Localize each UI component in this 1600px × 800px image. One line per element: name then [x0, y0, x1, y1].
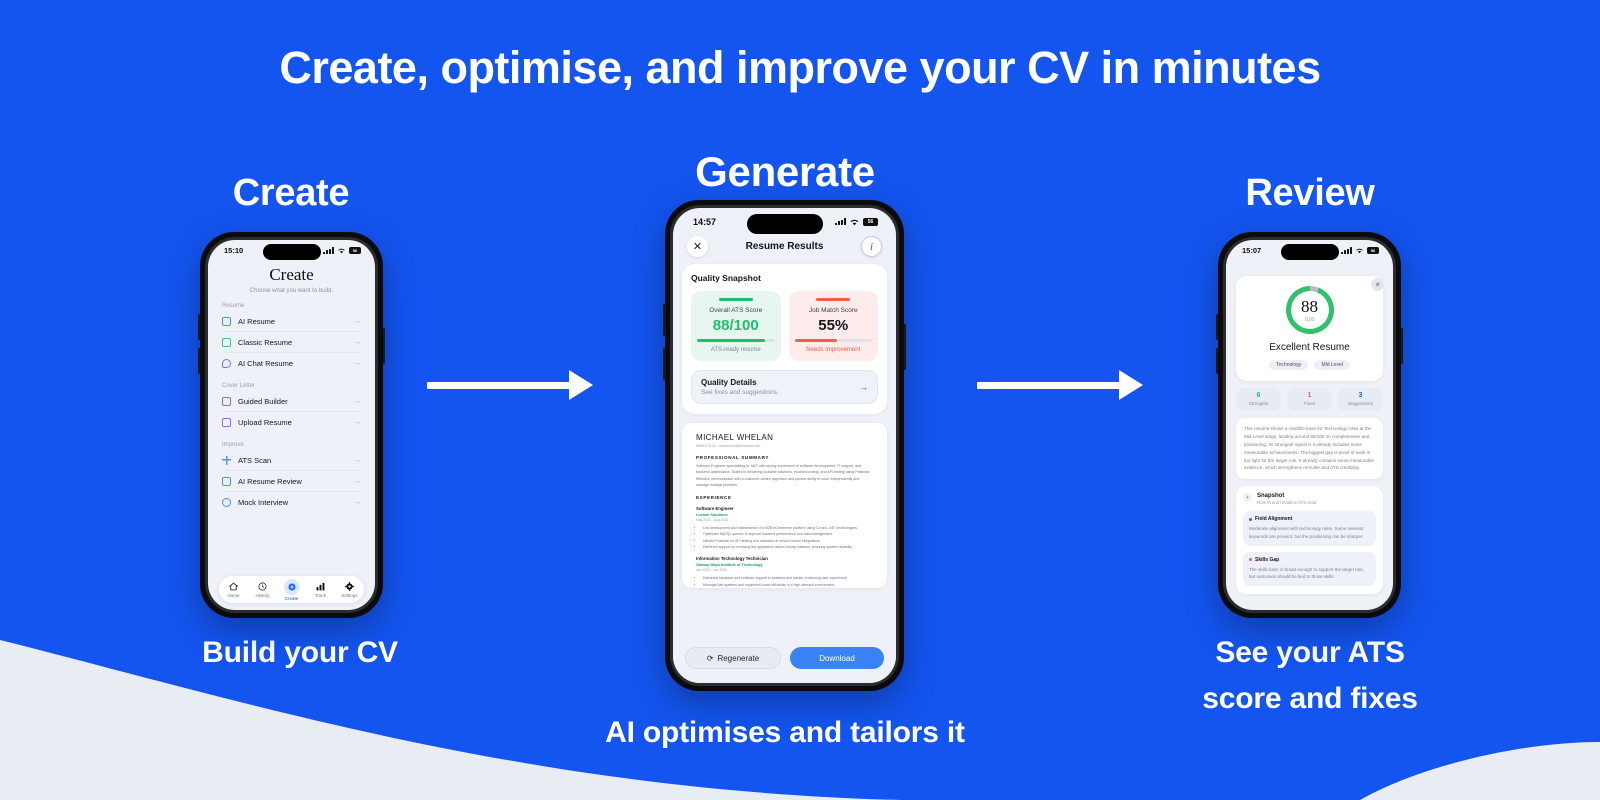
list-item-label: Mock Interview	[238, 498, 347, 507]
chevron-right-icon: →	[354, 339, 361, 346]
phone-mockup-create: 15:10 56 Create Choose what you want to …	[200, 232, 383, 618]
status-time: 15:07	[1242, 246, 1261, 255]
phone-mockup-review: 15:07 56 ✕ 88 /100 Excellent Resume T	[1218, 232, 1401, 618]
summary-text: This resume shows a credible base for Te…	[1236, 418, 1383, 479]
arrow-right-icon: →	[859, 382, 868, 392]
pulse-icon	[222, 456, 231, 465]
resume-bullet: Managed lab systems and equipment loans …	[703, 582, 873, 588]
resume-job: Software Engineer Luxami Solutions May 2…	[696, 506, 873, 550]
refresh-icon: ⟳	[707, 654, 714, 663]
ats-score-card: 88 /100 Excellent Resume Technology Mid …	[1236, 276, 1383, 381]
section-cover-letter: Cover Letter Guided Builder → Upload Res…	[208, 383, 375, 433]
volume-down-button[interactable]	[198, 348, 200, 374]
section-resume: Resume AI Resume → Classic Resume → AI C…	[208, 303, 375, 374]
screen-subtitle: Choose what you want to build.	[208, 288, 375, 294]
screen-title: Resume Results	[746, 241, 824, 252]
section-improve: Improve ATS Scan → AI Resume Review → Mo…	[208, 442, 375, 513]
score-verdict: Excellent Resume	[1244, 342, 1375, 353]
volume-up-button[interactable]	[1216, 314, 1218, 340]
battery-icon: 56	[863, 218, 878, 226]
resume-section-heading: PROFESSIONAL SUMMARY	[696, 455, 873, 460]
finding-title: Field Alignment	[1255, 516, 1292, 522]
chevron-right-icon: →	[354, 318, 361, 325]
tab-label: Track	[306, 593, 335, 598]
list-item-mock-interview[interactable]: Mock Interview →	[222, 492, 361, 513]
signal-icon	[835, 218, 846, 226]
finding-body: The skills base is broad enough to suppo…	[1249, 566, 1370, 581]
stat-value: 1	[1287, 392, 1332, 399]
list-item-upload-resume[interactable]: Upload Resume →	[222, 412, 361, 433]
regenerate-label: Regenerate	[717, 654, 759, 663]
metric-label: Overall ATS Score	[697, 307, 775, 314]
action-bar: ⟳ Regenerate Download	[673, 638, 896, 683]
finding-body: Moderate alignment with technology roles…	[1249, 525, 1370, 540]
metric-value: 88/100	[697, 317, 775, 334]
stat-suggestions[interactable]: 3 Suggestions	[1338, 388, 1383, 411]
score-ring: 88 /100	[1286, 286, 1334, 334]
signal-icon	[1341, 247, 1352, 254]
resume-job-role: Software Engineer	[696, 506, 873, 511]
navigation-bar: ✕ Resume Results i	[673, 230, 896, 264]
info-icon[interactable]: i	[861, 236, 882, 257]
review-caption-line2: score and fixes	[1202, 682, 1417, 715]
list-item-ai-resume-review[interactable]: AI Resume Review →	[222, 471, 361, 492]
chat-bubble-icon	[222, 359, 231, 368]
stat-fixes[interactable]: 1 Fixes	[1287, 388, 1332, 411]
chip-level: Mid Level	[1314, 360, 1349, 370]
stats-row: 6 Strengths 1 Fixes 3 Suggestions	[1236, 388, 1383, 411]
section-label: Improve	[222, 442, 375, 448]
review-icon	[222, 477, 231, 486]
document-icon	[222, 418, 231, 427]
status-dot	[1249, 518, 1252, 521]
status-time: 15:10	[224, 246, 243, 255]
sparkle-icon: ✦	[1243, 493, 1252, 502]
score-value: 88	[1301, 298, 1318, 315]
chevron-right-icon: →	[354, 419, 361, 426]
tab-settings[interactable]: Settings	[335, 581, 364, 598]
resume-job-org: Luxami Solutions	[696, 513, 873, 517]
list-item-label: AI Resume	[238, 317, 347, 326]
tab-history[interactable]: History	[248, 581, 277, 598]
list-item-classic-resume[interactable]: Classic Resume →	[222, 332, 361, 353]
step-title-create: Create	[170, 172, 412, 215]
step-title-generate: Generate	[660, 148, 910, 196]
ai-resume-icon	[222, 317, 231, 326]
list-item-ai-chat-resume[interactable]: AI Chat Resume →	[222, 353, 361, 374]
chevron-right-icon: →	[354, 398, 361, 405]
volume-down-button[interactable]	[663, 348, 666, 380]
snapshot-subtitle: Role fit and headline ATS read	[1257, 500, 1316, 505]
list-item-ai-resume[interactable]: AI Resume →	[222, 311, 361, 332]
tab-track[interactable]: Track	[306, 581, 335, 598]
stat-strengths[interactable]: 6 Strengths	[1236, 388, 1281, 411]
list-item-label: Guided Builder	[238, 397, 347, 406]
stat-label: Fixes	[1287, 401, 1332, 406]
metric-value: 55%	[795, 317, 873, 334]
finding-title: Skills Gap	[1255, 557, 1279, 563]
resume-job-dates: May 2021 – Aug 2023	[696, 518, 873, 522]
finding-skills-gap: Skills Gap The skills base is broad enou…	[1243, 552, 1376, 586]
quality-details-button[interactable]: Quality Details See fixes and suggestion…	[691, 370, 878, 404]
step-title-review: Review	[1185, 172, 1435, 215]
metric-accent-bar	[719, 298, 753, 301]
quality-snapshot-card: Quality Snapshot Overall ATS Score 88/10…	[682, 264, 887, 414]
quality-details-subtitle: See fixes and suggestions.	[701, 389, 779, 396]
review-caption-line1: See your ATS	[1215, 636, 1404, 669]
volume-down-button[interactable]	[1216, 348, 1218, 374]
metric-label: Job Match Score	[795, 307, 873, 314]
classic-resume-icon	[222, 338, 231, 347]
tab-create[interactable]: Create	[277, 579, 306, 601]
section-label: Cover Letter	[222, 383, 375, 389]
status-time: 14:57	[693, 217, 716, 227]
stat-value: 3	[1338, 392, 1383, 399]
status-bar: 15:07 56	[1226, 240, 1393, 258]
list-item-label: AI Chat Resume	[238, 359, 347, 368]
resume-summary: Software Engineer specialising in .NET w…	[696, 463, 873, 488]
page-title: Create, optimise, and improve your CV in…	[0, 42, 1600, 94]
metric-progress-fill	[697, 339, 765, 342]
chevron-right-icon: →	[354, 499, 361, 506]
resume-name: MICHAEL WHELAN	[696, 433, 873, 442]
tab-label: History	[248, 593, 277, 598]
close-icon[interactable]: ✕	[1371, 278, 1384, 291]
metric-overall-ats-score: Overall ATS Score 88/100 ATS-ready resum…	[691, 291, 781, 361]
resume-preview[interactable]: MICHAEL WHELAN 0858171134 · whelanm19@ho…	[682, 423, 887, 588]
metric-job-match-score: Job Match Score 55% Needs Improvement	[789, 291, 879, 361]
stat-label: Suggestions	[1338, 401, 1383, 406]
power-button[interactable]	[1401, 328, 1403, 364]
resume-job: Information Technology Technician Galway…	[696, 556, 873, 588]
metric-note: Needs Improvement	[795, 347, 873, 353]
stat-label: Strengths	[1236, 401, 1281, 406]
regenerate-button[interactable]: ⟳ Regenerate	[685, 647, 781, 669]
chip-industry: Technology	[1269, 360, 1308, 370]
close-icon[interactable]: ✕	[687, 236, 708, 257]
envelope-icon	[222, 397, 231, 406]
step-caption-review: See your ATS score and fixes	[1160, 630, 1460, 721]
score-denominator: /100	[1305, 317, 1315, 323]
metric-accent-bar	[816, 298, 850, 301]
resume-job-dates: Jan 2019 – Jun 2020	[696, 568, 873, 572]
wifi-icon	[337, 247, 346, 254]
chevron-right-icon: →	[354, 478, 361, 485]
step-caption-create: Build your CV	[150, 630, 450, 676]
section-label: Resume	[222, 303, 375, 309]
list-item-ats-scan[interactable]: ATS Scan →	[222, 450, 361, 471]
metric-progress-fill	[795, 339, 838, 342]
status-bar: 15:10 56	[208, 240, 375, 258]
resume-job-org: Galway Mayo Institute of Technology	[696, 563, 873, 567]
status-bar: 14:57 56	[673, 208, 896, 230]
list-item-label: ATS Scan	[238, 456, 347, 465]
screen-title: Create	[208, 265, 375, 285]
resume-section-heading: EXPERIENCE	[696, 495, 873, 500]
metric-progress-track	[795, 339, 873, 342]
list-item-guided-builder[interactable]: Guided Builder →	[222, 391, 361, 412]
tab-label: Create	[277, 596, 306, 601]
resume-job-role: Information Technology Technician	[696, 556, 873, 561]
metric-progress-track	[697, 339, 775, 342]
chevron-right-icon: →	[354, 360, 361, 367]
signal-icon	[323, 247, 334, 254]
metric-note: ATS-ready resume	[697, 347, 775, 353]
quality-details-title: Quality Details	[701, 378, 779, 387]
list-item-label: AI Resume Review	[238, 477, 347, 486]
bottom-tab-bar: Home History Create	[219, 576, 364, 603]
tab-home[interactable]: Home	[219, 581, 248, 598]
plus-icon	[284, 579, 300, 595]
battery-icon: 56	[349, 247, 361, 254]
volume-up-button[interactable]	[663, 304, 666, 336]
arrow-generate-to-review	[977, 370, 1143, 400]
resume-bullet: Delivered support by resolving live appl…	[703, 544, 873, 550]
microphone-icon	[222, 498, 231, 507]
status-dot	[1249, 558, 1252, 561]
snapshot-title: Snapshot	[1257, 493, 1316, 499]
bars-icon	[306, 581, 335, 592]
power-button[interactable]	[383, 328, 385, 364]
stat-value: 6	[1236, 392, 1281, 399]
finding-field-alignment: Field Alignment Moderate alignment with …	[1243, 511, 1376, 545]
tab-label: Settings	[335, 593, 364, 598]
snapshot-card: ✦ Snapshot Role fit and headline ATS rea…	[1236, 486, 1383, 594]
wifi-icon	[849, 218, 860, 226]
step-caption-generate: AI optimises and tailors it	[545, 710, 1025, 756]
home-icon	[219, 581, 248, 592]
tab-label: Home	[219, 593, 248, 598]
battery-icon: 56	[1367, 247, 1379, 254]
clock-icon	[248, 581, 277, 592]
download-button[interactable]: Download	[790, 647, 884, 669]
power-button[interactable]	[904, 324, 907, 370]
gear-icon	[335, 581, 364, 592]
download-label: Download	[819, 654, 855, 663]
volume-up-button[interactable]	[198, 314, 200, 340]
arrow-create-to-generate	[427, 370, 593, 400]
list-item-label: Upload Resume	[238, 418, 347, 427]
resume-contact: 0858171134 · whelanm19@hotmail.com	[696, 444, 873, 448]
phone-mockup-generate: 14:57 56 ✕ Resume Results i Quality Snap…	[665, 200, 904, 691]
chevron-right-icon: →	[354, 457, 361, 464]
card-title: Quality Snapshot	[691, 273, 878, 283]
resume-bullet: Delivered hardware and software support …	[703, 575, 873, 581]
list-item-label: Classic Resume	[238, 338, 347, 347]
wifi-icon	[1355, 247, 1364, 254]
